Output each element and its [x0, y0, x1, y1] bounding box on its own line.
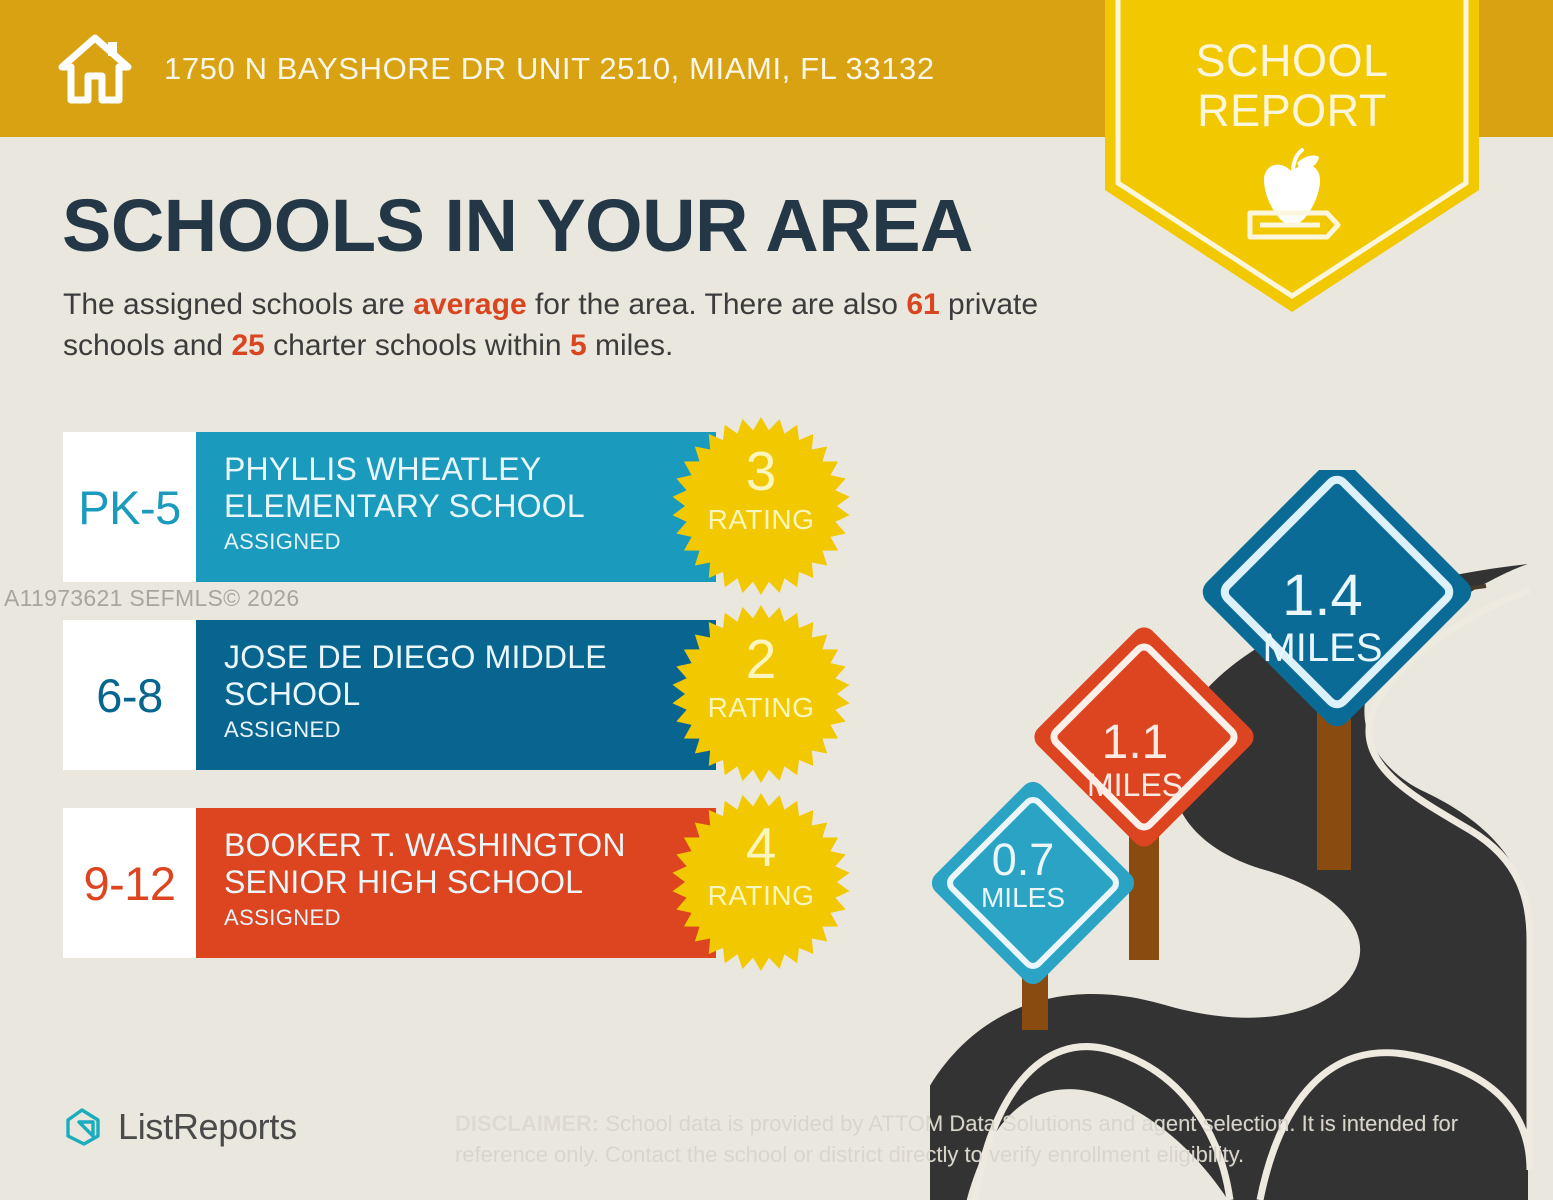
- assigned-status: ASSIGNED: [224, 529, 706, 555]
- school-info: PHYLLIS WHEATLEYELEMENTARY SCHOOLASSIGNE…: [224, 451, 706, 555]
- header-content: 1750 N BAYSHORE DR UNIT 2510, MIAMI, FL …: [58, 0, 935, 137]
- grade-label: 9-12: [83, 856, 175, 911]
- grade-label: PK-5: [78, 480, 181, 535]
- subtitle-text: for the area. There are also: [527, 288, 907, 321]
- subtitle-highlight: 5: [570, 329, 587, 362]
- mls-watermark: A11973621 SEFMLS© 2026: [4, 585, 299, 612]
- rating-caption: RATING: [671, 692, 851, 724]
- distance-scene: 0.7 MILES 1.1 MILES 1.4 MILES: [930, 470, 1553, 1200]
- school-name-line-1: PHYLLIS WHEATLEY: [224, 451, 706, 488]
- school-bar: PHYLLIS WHEATLEYELEMENTARY SCHOOLASSIGNE…: [196, 432, 716, 582]
- school-row[interactable]: PK-5PHYLLIS WHEATLEYELEMENTARY SCHOOLASS…: [63, 432, 853, 582]
- school-info: BOOKER T. WASHINGTONSENIOR HIGH SCHOOLAS…: [224, 827, 706, 931]
- disclaimer: DISCLAIMER: School data is provided by A…: [455, 1108, 1485, 1170]
- school-name-line-2: SENIOR HIGH SCHOOL: [224, 864, 706, 901]
- rating-badge: 2RATING: [671, 604, 851, 784]
- school-report-page: 1750 N BAYSHORE DR UNIT 2510, MIAMI, FL …: [0, 0, 1553, 1200]
- school-row[interactable]: 9-12BOOKER T. WASHINGTONSENIOR HIGH SCHO…: [63, 808, 853, 958]
- rating-badge: 4RATING: [671, 792, 851, 972]
- listreports-logo: ListReports: [62, 1106, 297, 1148]
- school-name-line-2: SCHOOL: [224, 676, 706, 713]
- page-subtitle: The assigned schools are average for the…: [63, 284, 1103, 366]
- disclaimer-label: DISCLAIMER:: [455, 1111, 599, 1136]
- logo-text: ListReports: [118, 1106, 297, 1148]
- subtitle-highlight: 61: [906, 288, 939, 321]
- rating-caption: RATING: [671, 880, 851, 912]
- subtitle-text: miles.: [587, 329, 674, 362]
- grade-box: 9-12: [63, 808, 196, 958]
- school-bar: JOSE DE DIEGO MIDDLESCHOOLASSIGNED: [196, 620, 716, 770]
- school-name-line-2: ELEMENTARY SCHOOL: [224, 488, 706, 525]
- school-info: JOSE DE DIEGO MIDDLESCHOOLASSIGNED: [224, 639, 706, 743]
- grade-box: PK-5: [63, 432, 196, 582]
- grade-label: 6-8: [96, 668, 162, 723]
- property-address: 1750 N BAYSHORE DR UNIT 2510, MIAMI, FL …: [164, 51, 935, 87]
- rating-value: 2: [671, 632, 851, 687]
- disclaimer-text: School data is provided by ATTOM Data So…: [455, 1111, 1458, 1167]
- house-tag-icon: [62, 1106, 104, 1148]
- page-title: SCHOOLS IN YOUR AREA: [62, 186, 973, 266]
- rating-caption: RATING: [671, 504, 851, 536]
- school-name-line-1: BOOKER T. WASHINGTON: [224, 827, 706, 864]
- school-row[interactable]: 6-8JOSE DE DIEGO MIDDLESCHOOLASSIGNED2RA…: [63, 620, 853, 770]
- school-bar: BOOKER T. WASHINGTONSENIOR HIGH SCHOOLAS…: [196, 808, 716, 958]
- rating-badge: 3RATING: [671, 416, 851, 596]
- grade-box: 6-8: [63, 620, 196, 770]
- home-icon: [58, 34, 132, 104]
- school-list: PK-5PHYLLIS WHEATLEYELEMENTARY SCHOOLASS…: [63, 432, 853, 958]
- assigned-status: ASSIGNED: [224, 905, 706, 931]
- rating-value: 3: [671, 444, 851, 499]
- subtitle-text: The assigned schools are: [63, 288, 413, 321]
- assigned-status: ASSIGNED: [224, 717, 706, 743]
- school-report-badge: SCHOOL REPORT: [1105, 0, 1479, 312]
- subtitle-highlight: 25: [231, 329, 264, 362]
- subtitle-highlight: average: [413, 288, 526, 321]
- school-name-line-1: JOSE DE DIEGO MIDDLE: [224, 639, 706, 676]
- subtitle-text: charter schools within: [265, 329, 570, 362]
- rating-value: 4: [671, 820, 851, 875]
